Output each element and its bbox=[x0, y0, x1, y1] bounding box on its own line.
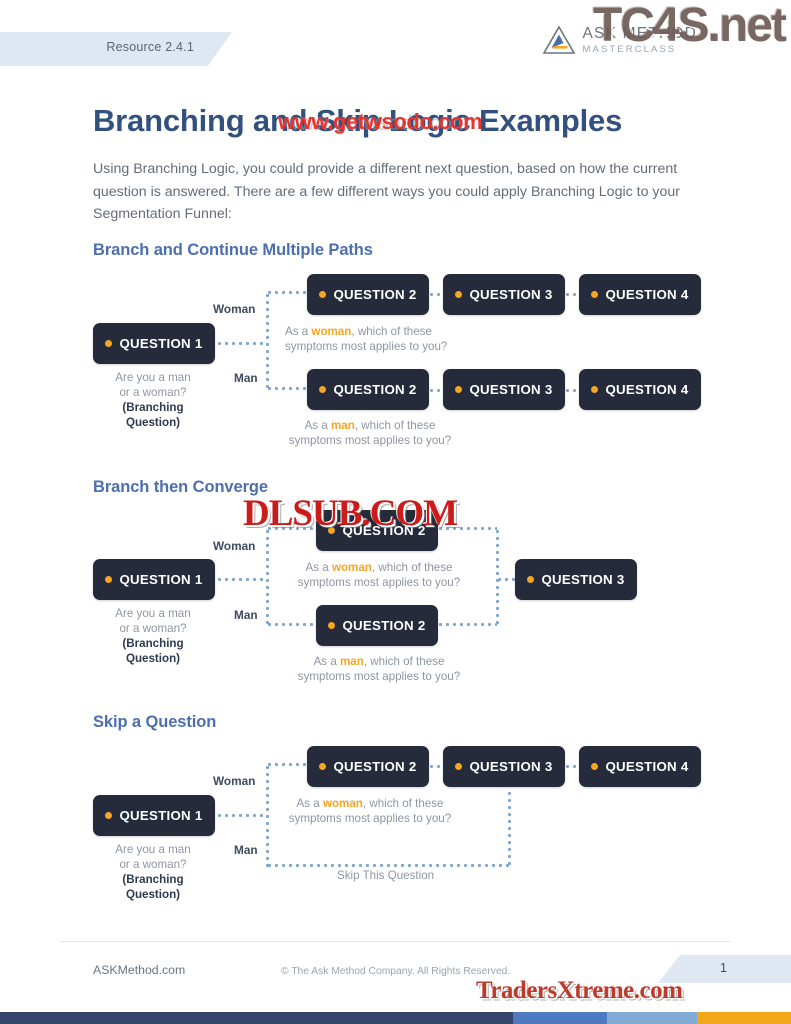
caption-line-3: (Branching bbox=[122, 401, 183, 414]
branch-label-man: Man bbox=[234, 608, 258, 622]
caption-line-2: or a woman? bbox=[85, 385, 221, 400]
caption-prefix: As a bbox=[314, 655, 340, 668]
logo-name-line1: ASK METHOD bbox=[583, 26, 697, 42]
caption-line-2: or a woman? bbox=[85, 621, 221, 636]
skip-path-label: Skip This Question bbox=[337, 869, 434, 882]
caption-highlight-man: man bbox=[340, 655, 364, 668]
box-label: QUESTION 4 bbox=[605, 287, 688, 302]
box-woman-question-3[interactable]: QUESTION 3 bbox=[443, 274, 565, 315]
caption-line-1: Are you a man bbox=[85, 370, 221, 385]
bar-segment-lightblue bbox=[607, 1012, 697, 1024]
box-label: QUESTION 3 bbox=[469, 382, 552, 397]
box-question-1[interactable]: QUESTION 1 bbox=[93, 559, 215, 600]
caption-line-4: Question) bbox=[126, 652, 180, 665]
branch-label-man: Man bbox=[234, 371, 258, 385]
connector-woman-converge bbox=[437, 527, 497, 530]
bullet-dot-icon bbox=[319, 386, 326, 393]
logo-name-line2: MASTERCLASS bbox=[583, 45, 697, 55]
connector-split-vertical bbox=[266, 764, 269, 868]
bullet-dot-icon bbox=[319, 763, 326, 770]
section-title-branch-converge: Branch then Converge bbox=[93, 478, 268, 497]
caption-suffix: , which of these bbox=[355, 419, 436, 432]
box-label: QUESTION 3 bbox=[469, 287, 552, 302]
box-label: QUESTION 2 bbox=[342, 523, 425, 538]
caption-suffix: , which of these bbox=[363, 797, 444, 810]
box-label: QUESTION 3 bbox=[469, 759, 552, 774]
caption-line-3: (Branching bbox=[122, 637, 183, 650]
bullet-dot-icon bbox=[328, 622, 335, 629]
caption-branching-question-2: Are you a man or a woman? (Branching Que… bbox=[85, 606, 221, 666]
page-title: Branching and Skip Logic Examples bbox=[93, 103, 753, 139]
section-title-skip-question: Skip a Question bbox=[93, 713, 216, 732]
bar-segment-navy bbox=[0, 1012, 513, 1024]
box-question-3[interactable]: QUESTION 3 bbox=[443, 746, 565, 787]
box-label: QUESTION 3 bbox=[541, 572, 624, 587]
box-label: QUESTION 2 bbox=[333, 382, 416, 397]
box-label: QUESTION 4 bbox=[605, 382, 688, 397]
bullet-dot-icon bbox=[319, 291, 326, 298]
caption-woman-path-2: As a woman, which of these symptoms most… bbox=[294, 560, 464, 590]
caption-branching-question-1: Are you a man or a woman? (Branching Que… bbox=[85, 370, 221, 430]
resource-ribbon: Resource 2.4.1 bbox=[0, 32, 232, 66]
caption-suffix: , which of these bbox=[372, 561, 453, 574]
caption-prefix: As a bbox=[297, 797, 323, 810]
box-man-question-2[interactable]: QUESTION 2 bbox=[316, 605, 438, 646]
caption-prefix: As a bbox=[305, 419, 331, 432]
caption-line-1: Are you a man bbox=[85, 606, 221, 621]
bullet-dot-icon bbox=[455, 386, 462, 393]
box-converged-question-3[interactable]: QUESTION 3 bbox=[515, 559, 637, 600]
caption-highlight-woman: woman bbox=[332, 561, 372, 574]
caption-line-2: symptoms most applies to you? bbox=[294, 575, 464, 590]
bullet-dot-icon bbox=[527, 576, 534, 583]
caption-branching-question-3: Are you a man or a woman? (Branching Que… bbox=[85, 842, 221, 902]
caption-line-2: or a woman? bbox=[85, 857, 221, 872]
page-number: 1 bbox=[720, 961, 727, 975]
caption-highlight-man: man bbox=[331, 419, 355, 432]
bullet-dot-icon bbox=[591, 386, 598, 393]
bullet-dot-icon bbox=[591, 763, 598, 770]
box-woman-question-2[interactable]: QUESTION 2 bbox=[307, 746, 429, 787]
bullet-dot-icon bbox=[455, 763, 462, 770]
box-woman-question-2[interactable]: QUESTION 2 bbox=[316, 510, 438, 551]
bar-segment-blue bbox=[513, 1012, 607, 1024]
caption-woman-path-1: As a woman, which of these symptoms most… bbox=[285, 324, 455, 354]
bullet-dot-icon bbox=[591, 291, 598, 298]
box-question-4[interactable]: QUESTION 4 bbox=[579, 746, 701, 787]
box-man-question-4[interactable]: QUESTION 4 bbox=[579, 369, 701, 410]
connector-skip-path bbox=[266, 864, 511, 867]
bullet-dot-icon bbox=[328, 527, 335, 534]
caption-line-1: Are you a man bbox=[85, 842, 221, 857]
connector-woman-branch bbox=[266, 763, 312, 766]
caption-line-4: Question) bbox=[126, 888, 180, 901]
resource-label: Resource 2.4.1 bbox=[106, 40, 194, 54]
caption-woman-path-3: As a woman, which of these symptoms most… bbox=[285, 796, 455, 826]
bar-segment-orange bbox=[697, 1012, 791, 1024]
caption-highlight-woman: woman bbox=[323, 797, 363, 810]
box-label: QUESTION 1 bbox=[119, 808, 202, 823]
caption-man-path-2: As a man, which of these symptoms most a… bbox=[294, 654, 464, 684]
caption-line-2: symptoms most applies to you? bbox=[294, 669, 464, 684]
box-question-1[interactable]: QUESTION 1 bbox=[93, 323, 215, 364]
connector-man-branch bbox=[266, 623, 321, 626]
watermark-tradersxtreme: TradersXtreme.com bbox=[476, 977, 682, 1005]
box-label: QUESTION 2 bbox=[333, 287, 416, 302]
caption-line-2: symptoms most applies to you? bbox=[285, 433, 455, 448]
caption-prefix: As a bbox=[285, 325, 311, 338]
connector-man-converge bbox=[437, 623, 497, 626]
ask-method-logo: ASK METHOD MASTERCLASS bbox=[542, 25, 697, 55]
connector-q1-out bbox=[216, 578, 266, 581]
box-label: QUESTION 4 bbox=[605, 759, 688, 774]
box-man-question-2[interactable]: QUESTION 2 bbox=[307, 369, 429, 410]
triangle-mountain-logo-icon bbox=[542, 25, 576, 55]
branch-label-man: Man bbox=[234, 843, 258, 857]
box-label: QUESTION 2 bbox=[333, 759, 416, 774]
page-number-badge: 1 bbox=[658, 955, 791, 983]
bullet-dot-icon bbox=[105, 340, 112, 347]
connector-split-vertical bbox=[266, 292, 269, 392]
branch-label-woman: Woman bbox=[213, 302, 255, 316]
connector-woman-branch bbox=[266, 291, 312, 294]
document-page: Resource 2.4.1 ASK METHOD MASTERCLASS Br… bbox=[0, 0, 791, 1024]
section-title-branch-continue: Branch and Continue Multiple Paths bbox=[93, 241, 373, 260]
box-label: QUESTION 2 bbox=[342, 618, 425, 633]
footer-site-link[interactable]: ASKMethod.com bbox=[93, 963, 185, 977]
bullet-dot-icon bbox=[105, 812, 112, 819]
connector-man-branch bbox=[266, 387, 312, 390]
connector-q1-out bbox=[216, 814, 266, 817]
caption-highlight-woman: woman bbox=[311, 325, 351, 338]
intro-paragraph: Using Branching Logic, you could provide… bbox=[93, 158, 698, 226]
caption-prefix: As a bbox=[306, 561, 332, 574]
box-man-question-3[interactable]: QUESTION 3 bbox=[443, 369, 565, 410]
branch-label-woman: Woman bbox=[213, 539, 255, 553]
footer-copyright: © The Ask Method Company. All Rights Res… bbox=[281, 966, 510, 977]
logo-wordmark: ASK METHOD MASTERCLASS bbox=[583, 26, 697, 54]
caption-line-3: (Branching bbox=[122, 873, 183, 886]
bottom-color-bar bbox=[0, 1012, 791, 1024]
box-woman-question-4[interactable]: QUESTION 4 bbox=[579, 274, 701, 315]
box-label: QUESTION 1 bbox=[119, 572, 202, 587]
connector-q1-out bbox=[216, 342, 266, 345]
bullet-dot-icon bbox=[455, 291, 462, 298]
connector-skip-up-to-q3 bbox=[508, 790, 511, 866]
box-label: QUESTION 1 bbox=[119, 336, 202, 351]
connector-woman-branch bbox=[266, 527, 321, 530]
caption-line-2: symptoms most applies to you? bbox=[285, 339, 455, 354]
caption-line-4: Question) bbox=[126, 416, 180, 429]
caption-suffix: , which of these bbox=[351, 325, 432, 338]
caption-line-2: symptoms most applies to you? bbox=[285, 811, 455, 826]
caption-man-path-1: As a man, which of these symptoms most a… bbox=[285, 418, 455, 448]
footer-divider bbox=[60, 941, 731, 942]
box-question-1[interactable]: QUESTION 1 bbox=[93, 795, 215, 836]
connector-split-vertical bbox=[266, 528, 269, 628]
branch-label-woman: Woman bbox=[213, 774, 255, 788]
box-woman-question-2[interactable]: QUESTION 2 bbox=[307, 274, 429, 315]
caption-suffix: , which of these bbox=[364, 655, 445, 668]
bullet-dot-icon bbox=[105, 576, 112, 583]
